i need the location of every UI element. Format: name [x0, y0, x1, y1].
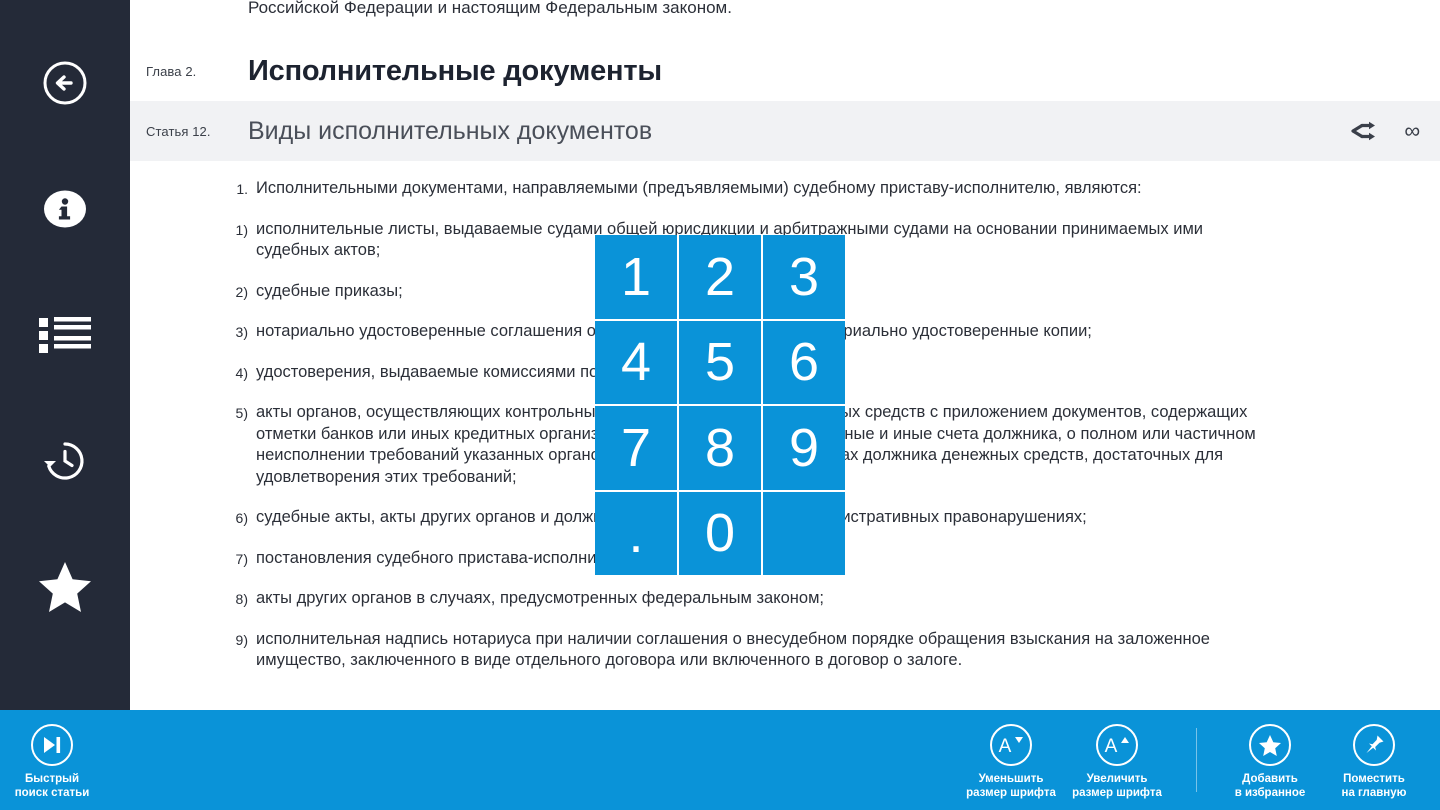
- list-item-number: 7): [226, 548, 256, 570]
- add-favorite-label-line2: в избранное: [1235, 786, 1306, 800]
- pin-home-label-line1: Поместить: [1343, 772, 1405, 786]
- font-decrease-button[interactable]: A Уменьшить размер шрифта: [959, 724, 1063, 800]
- keypad-key-2[interactable]: 2: [679, 235, 761, 319]
- svg-text:A: A: [1105, 736, 1118, 757]
- keypad-key-4[interactable]: 4: [595, 321, 677, 405]
- add-favorite-button[interactable]: Добавить в избранное: [1218, 724, 1322, 800]
- keypad-key-6[interactable]: 6: [763, 321, 845, 405]
- list-item-text: акты других органов в случаях, предусмот…: [256, 588, 824, 610]
- toolbar-divider: [1196, 728, 1197, 792]
- list-item-number: 4): [226, 362, 256, 384]
- list-item-number: 1): [226, 219, 256, 262]
- svg-text:A: A: [999, 736, 1012, 757]
- back-arrow-circle-icon: [41, 59, 89, 107]
- left-sidebar: [0, 0, 130, 710]
- share-icon[interactable]: [1350, 120, 1382, 142]
- article-actions: ∞: [1350, 101, 1420, 161]
- list-item: 9) исполнительная надпись нотариуса при …: [226, 629, 1280, 672]
- quick-search-button[interactable]: Быстрый поиск статьи: [0, 724, 104, 800]
- add-favorite-label-line1: Добавить: [1242, 772, 1298, 786]
- list-item: 8) акты других органов в случаях, предус…: [226, 588, 1280, 610]
- article-band: Статья 12. Виды исполнительных документо…: [130, 101, 1440, 161]
- bottom-toolbar: Быстрый поиск статьи A Уменьшить размер …: [0, 710, 1440, 810]
- app-root: Российской Федерации и настоящим Федерал…: [0, 0, 1440, 810]
- font-increase-label-line2: размер шрифта: [1072, 786, 1162, 800]
- font-increase-button[interactable]: A Увеличить размер шрифта: [1065, 724, 1169, 800]
- pin-circle-icon: [1353, 724, 1395, 766]
- list-item-number: 2): [226, 281, 256, 303]
- keypad-key-7[interactable]: 7: [595, 406, 677, 490]
- pin-home-button[interactable]: Поместить на главную: [1322, 724, 1426, 800]
- article-title: Виды исполнительных документов: [248, 117, 652, 146]
- sidebar-item-contents[interactable]: [0, 272, 130, 398]
- list-item-number: 5): [226, 402, 256, 488]
- keypad-key-blank: [763, 492, 845, 576]
- keypad-key-3[interactable]: 3: [763, 235, 845, 319]
- chapter-row: Глава 2. Исполнительные документы: [130, 42, 1440, 100]
- font-decrease-label-line2: размер шрифта: [966, 786, 1056, 800]
- list-item-text: исполнительная надпись нотариуса при нал…: [256, 629, 1256, 672]
- history-clock-icon: [41, 437, 89, 485]
- list-item-number: 1.: [226, 178, 256, 200]
- quick-search-label-line2: поиск статьи: [15, 786, 90, 800]
- article-label: Статья 12.: [130, 124, 248, 139]
- list-item: 1. Исполнительными документами, направля…: [226, 178, 1280, 200]
- list-item-number: 8): [226, 588, 256, 610]
- numeric-keypad: 1 2 3 4 5 6 7 8 9 . 0: [595, 235, 845, 575]
- keypad-key-9[interactable]: 9: [763, 406, 845, 490]
- list-item-number: 9): [226, 629, 256, 672]
- list-item-number: 3): [226, 321, 256, 343]
- list-item-text: Исполнительными документами, направляемы…: [256, 178, 1142, 200]
- list-icon: [39, 315, 91, 355]
- sidebar-item-history[interactable]: [0, 398, 130, 524]
- font-decrease-icon: A: [990, 724, 1032, 766]
- chapter-title: Исполнительные документы: [248, 55, 662, 88]
- keypad-key-5[interactable]: 5: [679, 321, 761, 405]
- star-icon: [37, 560, 93, 614]
- infinity-icon[interactable]: ∞: [1404, 120, 1420, 142]
- star-circle-icon: [1249, 724, 1291, 766]
- quick-search-label-line1: Быстрый: [25, 772, 79, 786]
- pin-home-label-line2: на главную: [1342, 786, 1407, 800]
- keypad-key-dot[interactable]: .: [595, 492, 677, 576]
- chapter-label: Глава 2.: [130, 64, 248, 79]
- sidebar-item-info[interactable]: [0, 146, 130, 272]
- list-item-number: 6): [226, 507, 256, 529]
- keypad-key-0[interactable]: 0: [679, 492, 761, 576]
- font-increase-icon: A: [1096, 724, 1138, 766]
- sidebar-item-back[interactable]: [0, 20, 130, 146]
- keypad-key-1[interactable]: 1: [595, 235, 677, 319]
- list-item-text: судебные приказы;: [256, 281, 403, 303]
- keypad-key-8[interactable]: 8: [679, 406, 761, 490]
- sidebar-item-favorites[interactable]: [0, 524, 130, 650]
- skip-next-circle-icon: [31, 724, 73, 766]
- font-decrease-label-line1: Уменьшить: [979, 772, 1044, 786]
- font-increase-label-line1: Увеличить: [1087, 772, 1148, 786]
- info-circle-icon: [41, 185, 89, 233]
- intro-line: Российской Федерации и настоящим Федерал…: [248, 0, 732, 20]
- list-item-text: постановления судебного пристава-исполни…: [256, 548, 636, 570]
